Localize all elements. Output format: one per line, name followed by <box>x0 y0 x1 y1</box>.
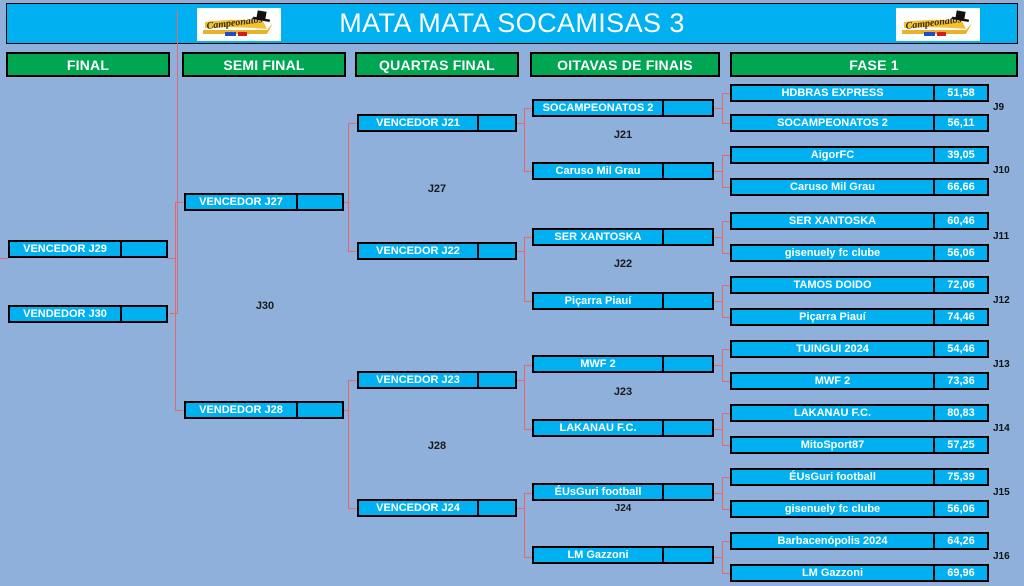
team-score <box>662 421 712 435</box>
match-box[interactable]: LAKANAU F.C. <box>532 419 714 437</box>
team-name: Caruso Mil Grau <box>534 164 662 178</box>
team-score <box>120 307 166 321</box>
team-score: 75,39 <box>933 470 987 484</box>
match-id-label: J9 <box>993 102 1004 113</box>
match-id-label: J11 <box>993 231 1009 242</box>
team-score: 54,46 <box>933 342 987 356</box>
team-score: 66,66 <box>933 180 987 194</box>
connector <box>714 557 722 558</box>
team-name: LM Gazzoni <box>534 548 662 562</box>
match-id-label: J15 <box>993 487 1010 498</box>
match-id-label: J24 <box>573 503 673 514</box>
connector <box>524 237 532 238</box>
connector <box>170 313 178 314</box>
match-box[interactable]: VENCEDOR J24 <box>357 499 517 517</box>
team-name: VENCEDOR J29 <box>10 242 120 256</box>
team-score <box>662 294 712 308</box>
connector <box>348 508 356 509</box>
match-id-label: J16 <box>993 551 1010 562</box>
connector <box>524 108 525 171</box>
match-id-label: J14 <box>993 423 1010 434</box>
connector <box>524 108 532 109</box>
campeonatos-logo-icon: Campeonatos <box>197 8 281 41</box>
match-box[interactable]: MitoSport87 57,25 <box>730 436 989 454</box>
team-score <box>477 244 515 258</box>
connector <box>714 301 722 302</box>
connector <box>722 155 723 187</box>
team-score <box>662 164 712 178</box>
team-name: Barbacenópolis 2024 <box>732 534 933 548</box>
connector <box>175 410 183 411</box>
connector <box>348 380 356 381</box>
match-id-label: J30 <box>215 300 315 312</box>
connector <box>524 365 532 366</box>
match-box[interactable]: VENCEDOR J23 <box>357 371 517 389</box>
team-name: VENCEDOR J22 <box>359 244 477 258</box>
campeonatos-logo-right: Campeonatos <box>896 8 980 41</box>
match-box[interactable]: TAMOS DOIDO 72,06 <box>730 276 989 294</box>
team-name: VENCEDOR J24 <box>359 501 477 515</box>
match-id-label: J13 <box>993 359 1010 370</box>
round-tab-fase1[interactable]: FASE 1 <box>730 52 1018 77</box>
connector <box>722 413 723 445</box>
match-box[interactable]: Caruso Mil Grau 66,66 <box>730 178 989 196</box>
match-box[interactable]: Caruso Mil Grau <box>532 162 714 180</box>
team-score: 69,96 <box>933 566 987 580</box>
match-box[interactable]: LM Gazzoni 69,96 <box>730 564 989 582</box>
connector <box>714 108 722 109</box>
tournament-bracket: MATA MATA SOCAMISAS 3 Campeonatos Campeo… <box>0 0 1024 586</box>
connector <box>524 429 532 430</box>
match-box[interactable]: AigorFC 39,05 <box>730 146 989 164</box>
team-name: VENCEDOR J21 <box>359 116 477 130</box>
round-tab-oitavas[interactable]: OITAVAS DE FINAIS <box>530 52 720 77</box>
match-box[interactable]: MWF 2 <box>532 355 714 373</box>
team-score: 56,11 <box>933 116 987 130</box>
match-box[interactable]: gisenuely fc clube 56,06 <box>730 244 989 262</box>
connector <box>348 251 356 252</box>
connector <box>722 541 723 573</box>
title-bar: MATA MATA SOCAMISAS 3 Campeonatos Campeo… <box>6 3 1018 44</box>
team-name: Piçarra Piauí <box>732 310 933 324</box>
connector <box>516 508 524 509</box>
match-box[interactable]: VENCEDOR J27 <box>184 193 344 211</box>
match-box[interactable]: SOCAMPEONATOS 2 <box>532 99 714 117</box>
team-score <box>477 501 515 515</box>
round-tab-semi[interactable]: SEMI FINAL <box>182 52 346 77</box>
connector <box>0 258 8 259</box>
team-score: 56,06 <box>933 246 987 260</box>
connector <box>348 123 349 251</box>
match-box[interactable]: LM Gazzoni <box>532 546 714 564</box>
connector <box>348 123 356 124</box>
match-box[interactable]: VENCEDOR J21 <box>357 114 517 132</box>
connector <box>175 202 176 410</box>
team-name: LAKANAU F.C. <box>732 406 933 420</box>
team-score: 39,05 <box>933 148 987 162</box>
team-score: 60,46 <box>933 214 987 228</box>
team-score <box>662 485 712 499</box>
team-score: 74,46 <box>933 310 987 324</box>
connector <box>722 221 723 253</box>
match-id-label: J10 <box>993 165 1010 176</box>
team-name: AigorFC <box>732 148 933 162</box>
match-box[interactable]: Piçarra Piauí <box>532 292 714 310</box>
team-name: SOCAMPEONATOS 2 <box>732 116 933 130</box>
team-name: gisenuely fc clube <box>732 246 933 260</box>
match-box[interactable]: Piçarra Piauí 74,46 <box>730 308 989 326</box>
team-score: 51,58 <box>933 86 987 100</box>
match-box[interactable]: SER XANTOSKA 60,46 <box>730 212 989 230</box>
team-score <box>477 373 515 387</box>
match-box[interactable]: SER XANTOSKA <box>532 228 714 246</box>
team-score <box>662 230 712 244</box>
team-score: 80,83 <box>933 406 987 420</box>
team-score <box>296 403 342 417</box>
connector <box>524 237 525 301</box>
team-name: MWF 2 <box>732 374 933 388</box>
match-id-label: J23 <box>573 386 673 398</box>
match-box[interactable]: LAKANAU F.C. 80,83 <box>730 404 989 422</box>
team-score <box>662 548 712 562</box>
connector <box>524 365 525 429</box>
match-box[interactable]: TUINGUI 2024 54,46 <box>730 340 989 358</box>
team-score <box>662 101 712 115</box>
match-box[interactable]: ÉUsGuri football 75,39 <box>730 468 989 486</box>
team-name: HDBRAS EXPRESS <box>732 86 933 100</box>
team-name: SER XANTOSKA <box>732 214 933 228</box>
team-score: 72,06 <box>933 278 987 292</box>
round-tab-quartas[interactable]: QUARTAS FINAL <box>355 52 519 77</box>
connector <box>714 365 722 366</box>
connector <box>524 557 532 558</box>
round-tab-final[interactable]: FINAL <box>6 52 170 77</box>
connector <box>524 493 525 557</box>
connector <box>524 493 532 494</box>
connector <box>177 10 178 313</box>
team-name: TAMOS DOIDO <box>732 278 933 292</box>
team-name: TUINGUI 2024 <box>732 342 933 356</box>
team-score: 57,25 <box>933 438 987 452</box>
team-score: 73,36 <box>933 374 987 388</box>
team-name: ÉUsGuri football <box>732 470 933 484</box>
team-name: LAKANAU F.C. <box>534 421 662 435</box>
team-score <box>662 357 712 371</box>
connector <box>516 251 524 252</box>
match-id-label: J21 <box>573 129 673 141</box>
team-name: VENCEDOR J23 <box>359 373 477 387</box>
match-box[interactable]: VENDEDOR J28 <box>184 401 344 419</box>
match-box[interactable]: HDBRAS EXPRESS 51,58 <box>730 84 989 102</box>
team-score <box>296 195 342 209</box>
team-name: VENDEDOR J28 <box>186 403 296 417</box>
match-id-label: J22 <box>573 258 673 270</box>
team-score <box>477 116 515 130</box>
match-id-label: J27 <box>387 183 487 195</box>
team-score: 64,26 <box>933 534 987 548</box>
match-box[interactable]: VENCEDOR J22 <box>357 242 517 260</box>
team-name: VENCEDOR J27 <box>186 195 296 209</box>
connector <box>524 171 532 172</box>
connector <box>722 93 723 123</box>
match-box[interactable]: SOCAMPEONATOS 2 56,11 <box>730 114 989 132</box>
match-box[interactable]: ÉUsGuri football <box>532 483 714 501</box>
connector <box>714 237 722 238</box>
connector <box>714 429 722 430</box>
team-score: 56,06 <box>933 502 987 516</box>
team-name: MWF 2 <box>534 357 662 371</box>
team-score <box>120 242 166 256</box>
match-id-label: J12 <box>993 295 1010 306</box>
connector <box>722 285 723 317</box>
connector <box>722 477 723 509</box>
connector <box>167 258 175 259</box>
campeonatos-logo-left: Campeonatos <box>197 8 281 41</box>
team-name: Piçarra Piauí <box>534 294 662 308</box>
connector <box>714 171 722 172</box>
connector <box>524 301 532 302</box>
team-name: MitoSport87 <box>732 438 933 452</box>
team-name: gisenuely fc clube <box>732 502 933 516</box>
team-name: SOCAMPEONATOS 2 <box>534 101 662 115</box>
team-name: ÉUsGuri football <box>534 485 662 499</box>
connector <box>714 493 722 494</box>
match-box[interactable]: gisenuely fc clube 56,06 <box>730 500 989 518</box>
page-title: MATA MATA SOCAMISAS 3 <box>7 4 1017 43</box>
match-box[interactable]: Barbacenópolis 2024 64,26 <box>730 532 989 550</box>
connector <box>722 349 723 381</box>
team-name: VENDEDOR J30 <box>10 307 120 321</box>
team-name: Caruso Mil Grau <box>732 180 933 194</box>
connector <box>516 380 524 381</box>
team-name: LM Gazzoni <box>732 566 933 580</box>
match-id-label: J28 <box>387 440 487 452</box>
connector <box>516 123 524 124</box>
campeonatos-logo-icon: Campeonatos <box>896 8 980 41</box>
match-box[interactable]: MWF 2 73,36 <box>730 372 989 390</box>
match-box[interactable]: VENDEDOR J30 <box>8 305 168 323</box>
match-box[interactable]: VENCEDOR J29 <box>8 240 168 258</box>
team-name: SER XANTOSKA <box>534 230 662 244</box>
connector <box>348 380 349 508</box>
